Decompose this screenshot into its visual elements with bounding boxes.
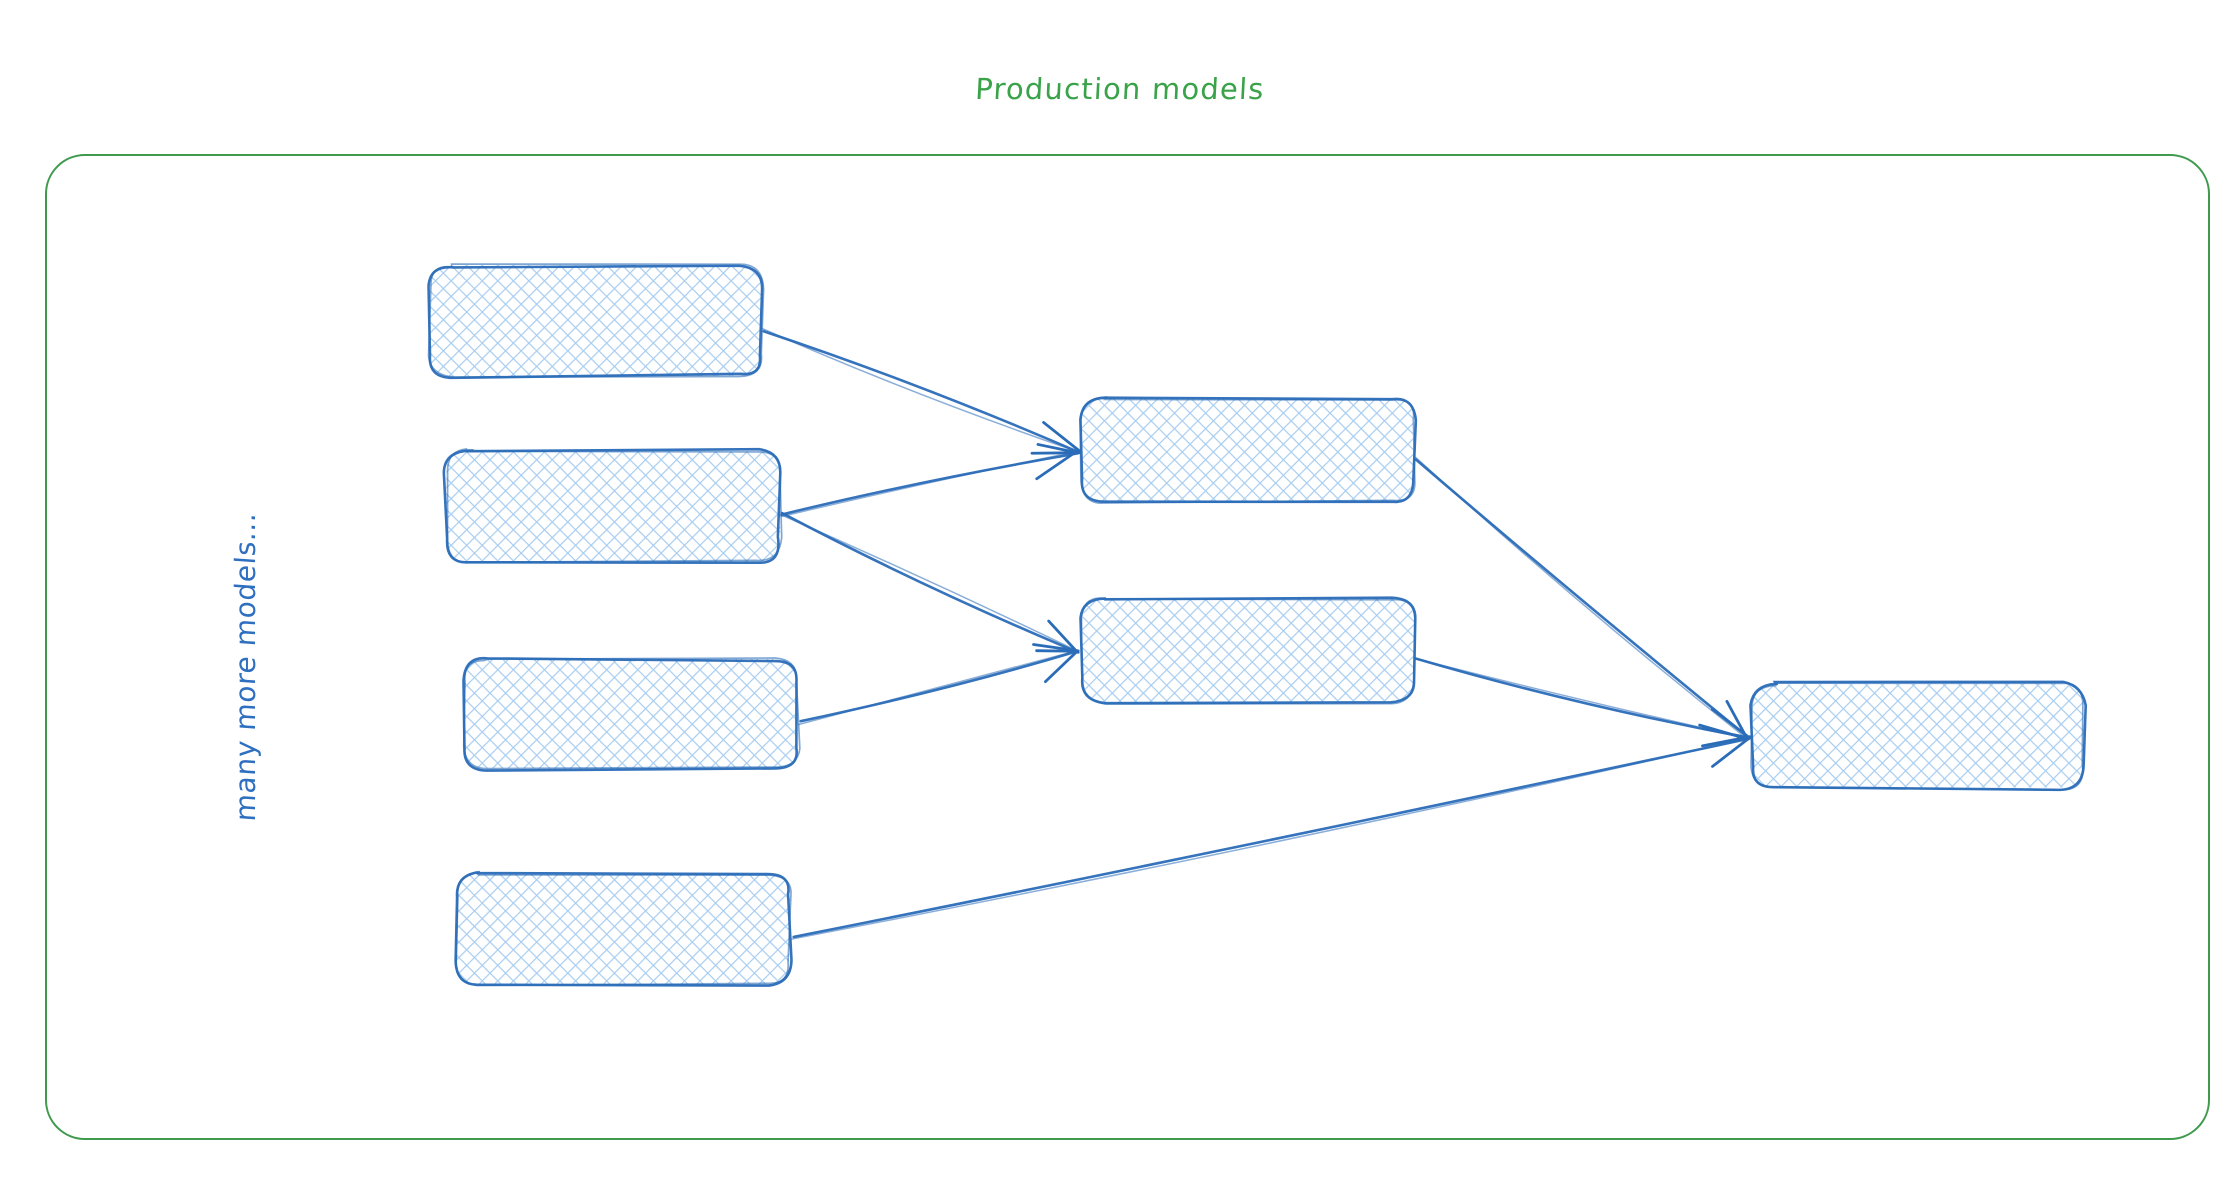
- node-hit-model_f[interactable]: [1082, 598, 1414, 702]
- diagram-canvas: Production models many more models... mo…: [0, 0, 2240, 1188]
- node-hit-model_a[interactable]: [430, 266, 762, 376]
- node-hit-model_e[interactable]: [1082, 398, 1414, 502]
- node-hit-model_c[interactable]: [464, 659, 798, 769]
- node-hit-model_d[interactable]: [456, 874, 790, 984]
- node-layer: [0, 0, 2240, 1188]
- node-hit-model_b[interactable]: [446, 451, 780, 561]
- node-hit-model_g[interactable]: [1752, 684, 2084, 788]
